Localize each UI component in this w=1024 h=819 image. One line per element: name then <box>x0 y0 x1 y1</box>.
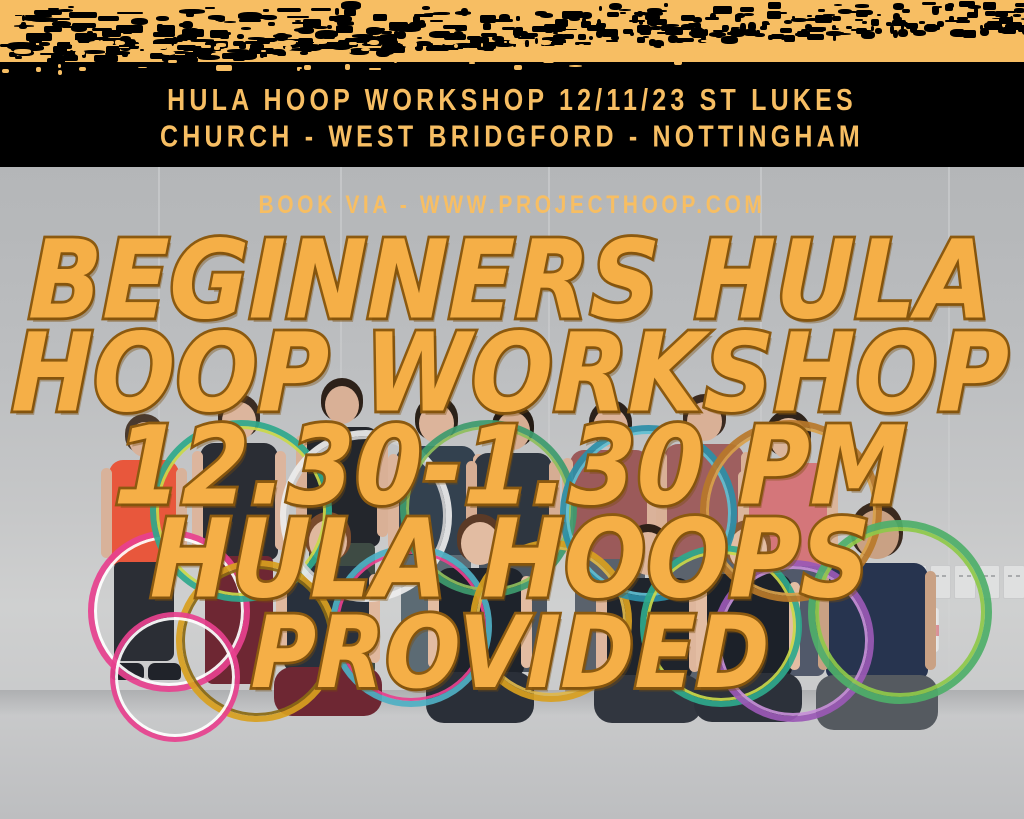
grunge-speck <box>201 45 211 48</box>
grunge-speck <box>75 51 85 55</box>
grunge-fleck <box>784 35 796 42</box>
grunge-speck <box>954 54 960 59</box>
grunge-fleck <box>98 16 120 22</box>
grunge-speck <box>14 49 31 54</box>
grunge-fleck <box>846 26 852 28</box>
grunge-fleck <box>807 34 824 40</box>
grunge-fleck <box>535 38 538 45</box>
grunge-fleck <box>985 11 996 16</box>
arm <box>101 468 112 558</box>
grunge-fleck <box>287 16 309 18</box>
grunge-speck <box>216 65 232 70</box>
grunge-fleck <box>153 32 174 36</box>
grunge-speck <box>458 49 468 51</box>
grunge-fleck <box>131 18 148 25</box>
grunge-speck <box>263 57 274 60</box>
grunge-speck <box>813 43 821 47</box>
grunge-speck <box>914 53 917 56</box>
grunge-speck <box>1013 51 1016 54</box>
grunge-fleck <box>855 4 870 7</box>
grunge-speck <box>304 65 311 70</box>
grunge-fleck <box>735 14 741 22</box>
grunge-fleck <box>358 36 380 40</box>
grunge-fleck <box>520 31 528 36</box>
head <box>687 402 722 441</box>
grunge-fleck <box>664 3 669 6</box>
grunge-fleck <box>83 50 105 54</box>
hula-hoop <box>110 612 240 742</box>
grunge-fleck <box>92 28 112 31</box>
grunge-speck <box>285 46 292 50</box>
grunge-speck <box>611 45 620 49</box>
grunge-fleck <box>174 55 197 62</box>
grunge-fleck <box>949 16 954 23</box>
grunge-fleck <box>263 9 269 11</box>
grunge-fleck <box>851 29 866 31</box>
grunge-fleck <box>649 39 656 46</box>
grunge-speck <box>214 46 219 50</box>
grunge-fleck <box>562 11 571 19</box>
grunge-fleck <box>117 12 143 14</box>
grunge-speck <box>454 44 457 48</box>
grunge-speck <box>686 50 690 54</box>
grunge-fleck <box>499 14 509 22</box>
grunge-fleck <box>784 20 793 24</box>
grunge-speck <box>277 44 291 46</box>
grunge-fleck <box>637 11 643 17</box>
grunge-speck <box>607 50 610 55</box>
grunge-speck <box>444 40 454 45</box>
grunge-speck <box>394 60 397 64</box>
grunge-fleck <box>639 27 648 35</box>
grunge-fleck <box>300 44 322 50</box>
grunge-fleck <box>373 14 387 21</box>
grunge-speck <box>138 67 147 69</box>
grunge-speck <box>795 48 805 51</box>
grunge-fleck <box>875 28 882 34</box>
grunge-speck <box>115 40 121 44</box>
grunge-speck <box>540 40 551 44</box>
grunge-speck <box>79 67 85 71</box>
grunge-fleck <box>596 23 605 28</box>
grunge-fleck <box>906 23 919 29</box>
grunge-fleck <box>344 9 357 16</box>
grunge-fleck <box>553 32 558 34</box>
grunge-fleck <box>122 52 128 57</box>
banner-line-2: CHURCH - WEST BRIDGFORD - NOTTINGHAM <box>0 119 1024 156</box>
grunge-speck <box>514 48 520 50</box>
grunge-speck <box>569 65 582 67</box>
grunge-speck <box>701 47 712 50</box>
grunge-fleck <box>581 12 592 19</box>
grunge-speck <box>960 45 964 47</box>
grunge-speck <box>888 42 893 45</box>
hula-hoop <box>808 520 992 704</box>
grunge-speck <box>187 40 191 44</box>
grunge-fleck <box>311 8 332 11</box>
grunge-speck <box>151 44 167 49</box>
grunge-speck <box>36 67 42 72</box>
grunge-speck <box>544 54 555 56</box>
top-banner: HULA HOOP WORKSHOP 12/11/23 ST LUKES CHU… <box>0 0 1024 167</box>
grunge-fleck <box>643 12 662 16</box>
grunge-speck <box>2 69 9 73</box>
grunge-speck <box>498 47 512 52</box>
grunge-fleck <box>483 23 491 30</box>
grunge-fleck <box>668 35 678 43</box>
grunge-speck <box>524 50 529 53</box>
grunge-fleck <box>15 56 22 59</box>
grunge-speck <box>829 42 834 45</box>
grunge-fleck <box>945 4 953 10</box>
grunge-fleck <box>532 26 553 32</box>
head <box>325 386 359 424</box>
grunge-speck <box>416 53 425 56</box>
grunge-speck <box>842 41 849 45</box>
grunge-fleck <box>324 43 337 49</box>
grunge-fleck <box>21 22 26 28</box>
grunge-speck <box>631 43 638 46</box>
grunge-fleck <box>630 32 634 36</box>
grunge-fleck <box>871 26 875 31</box>
grunge-fleck <box>819 27 826 29</box>
grunge-fleck <box>620 12 626 14</box>
grunge-speck <box>70 40 77 45</box>
grunge-fleck <box>179 23 186 27</box>
grunge-fleck <box>557 29 577 31</box>
grunge-speck <box>965 49 974 51</box>
grunge-speck <box>504 41 507 44</box>
grunge-fleck <box>915 30 922 33</box>
grunge-speck <box>469 62 475 64</box>
grunge-fleck <box>277 8 301 12</box>
grunge-speck <box>314 40 327 44</box>
grunge-speck <box>316 56 330 59</box>
grunge-speck <box>543 58 554 63</box>
grunge-fleck <box>483 44 494 46</box>
grunge-fleck <box>748 22 757 30</box>
grunge-fleck <box>856 10 867 17</box>
grunge-fleck <box>414 14 433 17</box>
grunge-fleck <box>705 17 719 21</box>
grunge-fleck <box>974 8 979 15</box>
grunge-fleck <box>740 7 754 12</box>
grunge-fleck <box>611 36 619 40</box>
grunge-fleck <box>366 27 382 34</box>
grunge-speck <box>694 55 702 59</box>
grunge-fleck <box>892 20 906 26</box>
grunge-fleck <box>327 25 332 29</box>
grunge-speck <box>369 68 381 71</box>
grunge-speck <box>97 41 114 44</box>
grunge-fleck <box>430 20 443 22</box>
event-poster: HULA HOOP WORKSHOP 12/11/23 ST LUKES CHU… <box>0 0 1024 819</box>
grunge-fleck <box>0 44 20 46</box>
grunge-fleck <box>606 40 618 42</box>
grunge-fleck <box>957 17 968 20</box>
grunge-fleck <box>298 38 313 44</box>
grunge-fleck <box>924 24 937 32</box>
grunge-speck <box>563 43 574 46</box>
banner-headline: HULA HOOP WORKSHOP 12/11/23 ST LUKES CHU… <box>0 82 1024 155</box>
grunge-fleck <box>578 34 587 40</box>
grunge-fleck <box>467 36 480 40</box>
grunge-speck <box>661 46 665 49</box>
grunge-speck <box>58 70 63 74</box>
grunge-fleck <box>237 51 257 59</box>
grunge-fleck <box>838 9 852 14</box>
grunge-fleck <box>877 14 881 16</box>
grunge-fleck <box>518 37 535 39</box>
grunge-fleck <box>75 33 96 38</box>
grunge-fleck <box>780 28 793 32</box>
grunge-fleck <box>182 29 204 37</box>
grunge-fleck <box>902 9 910 13</box>
grunge-speck <box>409 42 417 47</box>
grunge-speck <box>674 59 683 64</box>
grunge-fleck <box>731 27 737 35</box>
grunge-fleck <box>681 17 688 19</box>
grunge-fleck <box>389 22 409 29</box>
grunge-speck <box>639 54 650 59</box>
grunge-fleck <box>156 16 169 21</box>
grunge-fleck <box>807 15 811 17</box>
grunge-fleck <box>760 26 768 30</box>
grunge-fleck <box>721 36 737 44</box>
wall-socket <box>1003 565 1024 599</box>
grunge-fleck <box>394 44 403 50</box>
grunge-fleck <box>62 55 79 60</box>
grunge-fleck <box>832 28 839 30</box>
grunge-fleck <box>619 9 631 11</box>
grunge-speck <box>58 64 61 68</box>
grunge-fleck <box>140 49 144 52</box>
grunge-fleck <box>68 6 73 9</box>
grunge-speck <box>984 40 993 44</box>
grunge-fleck <box>637 37 645 43</box>
grunge-fleck <box>116 25 143 33</box>
grunge-speck <box>902 42 904 46</box>
grunge-speck <box>979 56 982 60</box>
grunge-fleck <box>1014 8 1024 13</box>
grunge-speck <box>806 55 815 58</box>
grunge-fleck <box>1015 3 1024 7</box>
grunge-speck <box>473 50 485 54</box>
grunge-fleck <box>607 12 620 17</box>
grunge-fleck <box>516 16 520 20</box>
grunge-speck <box>135 44 142 46</box>
grunge-fleck <box>754 33 764 37</box>
grunge-fleck <box>833 33 836 41</box>
grunge-fleck <box>208 15 225 20</box>
head <box>129 422 160 457</box>
grunge-speck <box>995 40 1002 43</box>
grunge-fleck <box>922 2 936 4</box>
grunge-speck <box>345 64 350 69</box>
grunge-fleck <box>629 20 645 22</box>
grunge-fleck <box>303 19 321 27</box>
grunge-fleck <box>500 37 504 44</box>
grunge-speck <box>168 60 177 63</box>
grunge-speck <box>925 42 935 45</box>
grunge-fleck <box>205 7 215 9</box>
grunge-fleck <box>818 9 825 12</box>
grunge-fleck <box>233 41 244 46</box>
grunge-fleck <box>224 21 236 23</box>
grunge-speck <box>579 44 584 47</box>
grunge-speck <box>361 48 370 52</box>
grunge-fleck <box>40 53 65 55</box>
grunge-fleck <box>839 32 844 35</box>
grunge-speck <box>757 42 765 47</box>
grunge-fleck <box>44 18 70 20</box>
grunge-fleck <box>893 30 898 38</box>
grunge-fleck <box>596 30 604 38</box>
grunge-fleck <box>815 15 833 23</box>
grunge-speck <box>995 53 1002 55</box>
grunge-fleck <box>335 8 339 15</box>
grunge-speck <box>869 41 876 44</box>
grunge-fleck <box>480 15 496 23</box>
grunge-speck <box>512 55 515 60</box>
grunge-fleck <box>376 49 389 57</box>
grunge-fleck <box>670 27 689 30</box>
grunge-speck <box>509 40 522 44</box>
grunge-speck <box>474 60 476 62</box>
grunge-fleck <box>862 21 867 23</box>
grunge-fleck <box>99 56 112 63</box>
grunge-fleck <box>1013 14 1021 17</box>
grunge-fleck <box>461 8 468 16</box>
grunge-fleck <box>525 40 529 46</box>
grunge-speck <box>917 43 924 46</box>
grunge-fleck <box>69 12 96 19</box>
grunge-speck <box>583 60 594 62</box>
banner-line-1: HULA HOOP WORKSHOP 12/11/23 ST LUKES <box>167 83 857 117</box>
grunge-fleck <box>344 39 348 47</box>
grunge-fleck <box>919 21 925 24</box>
grunge-fleck <box>280 50 284 55</box>
grunge-fleck <box>186 12 194 17</box>
grunge-fleck <box>704 29 708 36</box>
grunge-speck <box>969 43 977 45</box>
booking-line[interactable]: BOOK VIA - WWW.PROJECTHOOP.COM <box>0 192 1024 220</box>
grunge-fleck <box>650 24 656 26</box>
grunge-fleck <box>417 37 422 39</box>
grunge-fleck <box>722 25 728 32</box>
grunge-fleck <box>832 16 840 21</box>
grunge-fleck <box>932 7 938 15</box>
grunge-fleck <box>429 45 432 49</box>
grunge-fleck <box>62 26 80 28</box>
grunge-speck <box>514 65 522 70</box>
grunge-fleck <box>29 35 42 42</box>
grunge-fleck <box>696 23 700 30</box>
grunge-fleck <box>443 25 459 29</box>
grunge-fleck <box>864 33 872 38</box>
grunge-fleck <box>763 23 770 25</box>
grunge-fleck <box>316 30 338 38</box>
grunge-fleck <box>950 29 965 37</box>
grunge-fleck <box>768 2 781 9</box>
grunge-fleck <box>337 21 353 26</box>
grunge-fleck <box>238 12 262 19</box>
grunge-fleck <box>771 34 782 39</box>
grunge-fleck <box>268 22 275 26</box>
grunge-speck <box>261 50 266 52</box>
grunge-speck <box>906 44 915 49</box>
grunge-fleck <box>998 26 1003 33</box>
grunge-fleck <box>563 34 574 40</box>
grunge-fleck <box>329 16 337 21</box>
grunge-fleck <box>795 33 801 36</box>
